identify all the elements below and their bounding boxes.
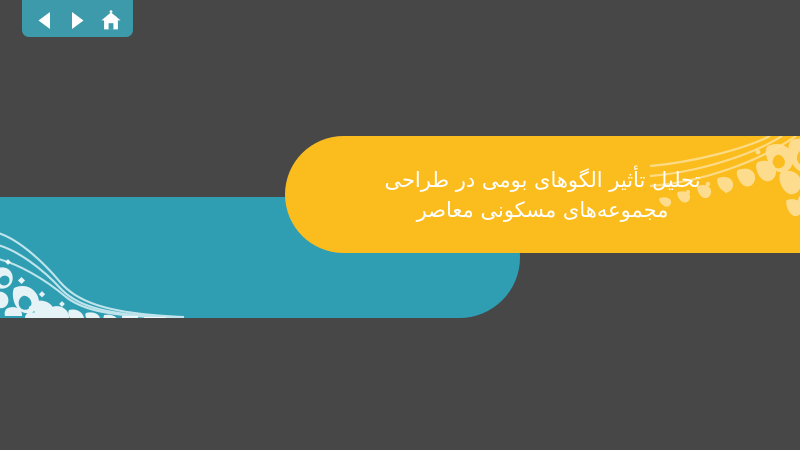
- arabesque-corner-ornament: [650, 136, 800, 253]
- arabesque-corner-ornament: [0, 197, 184, 318]
- triangle-right-icon: [69, 11, 86, 30]
- presentation-slide: تحلیل تأثیر الگوهای بومی در طراحی مجموعه…: [0, 0, 800, 450]
- home-button[interactable]: [100, 9, 122, 31]
- next-slide-button[interactable]: [67, 9, 89, 31]
- yellow-title-banner: [285, 136, 800, 253]
- slide-navigation-bar: [22, 0, 133, 37]
- triangle-left-icon: [36, 11, 53, 30]
- home-icon: [100, 10, 122, 31]
- previous-slide-button[interactable]: [33, 9, 55, 31]
